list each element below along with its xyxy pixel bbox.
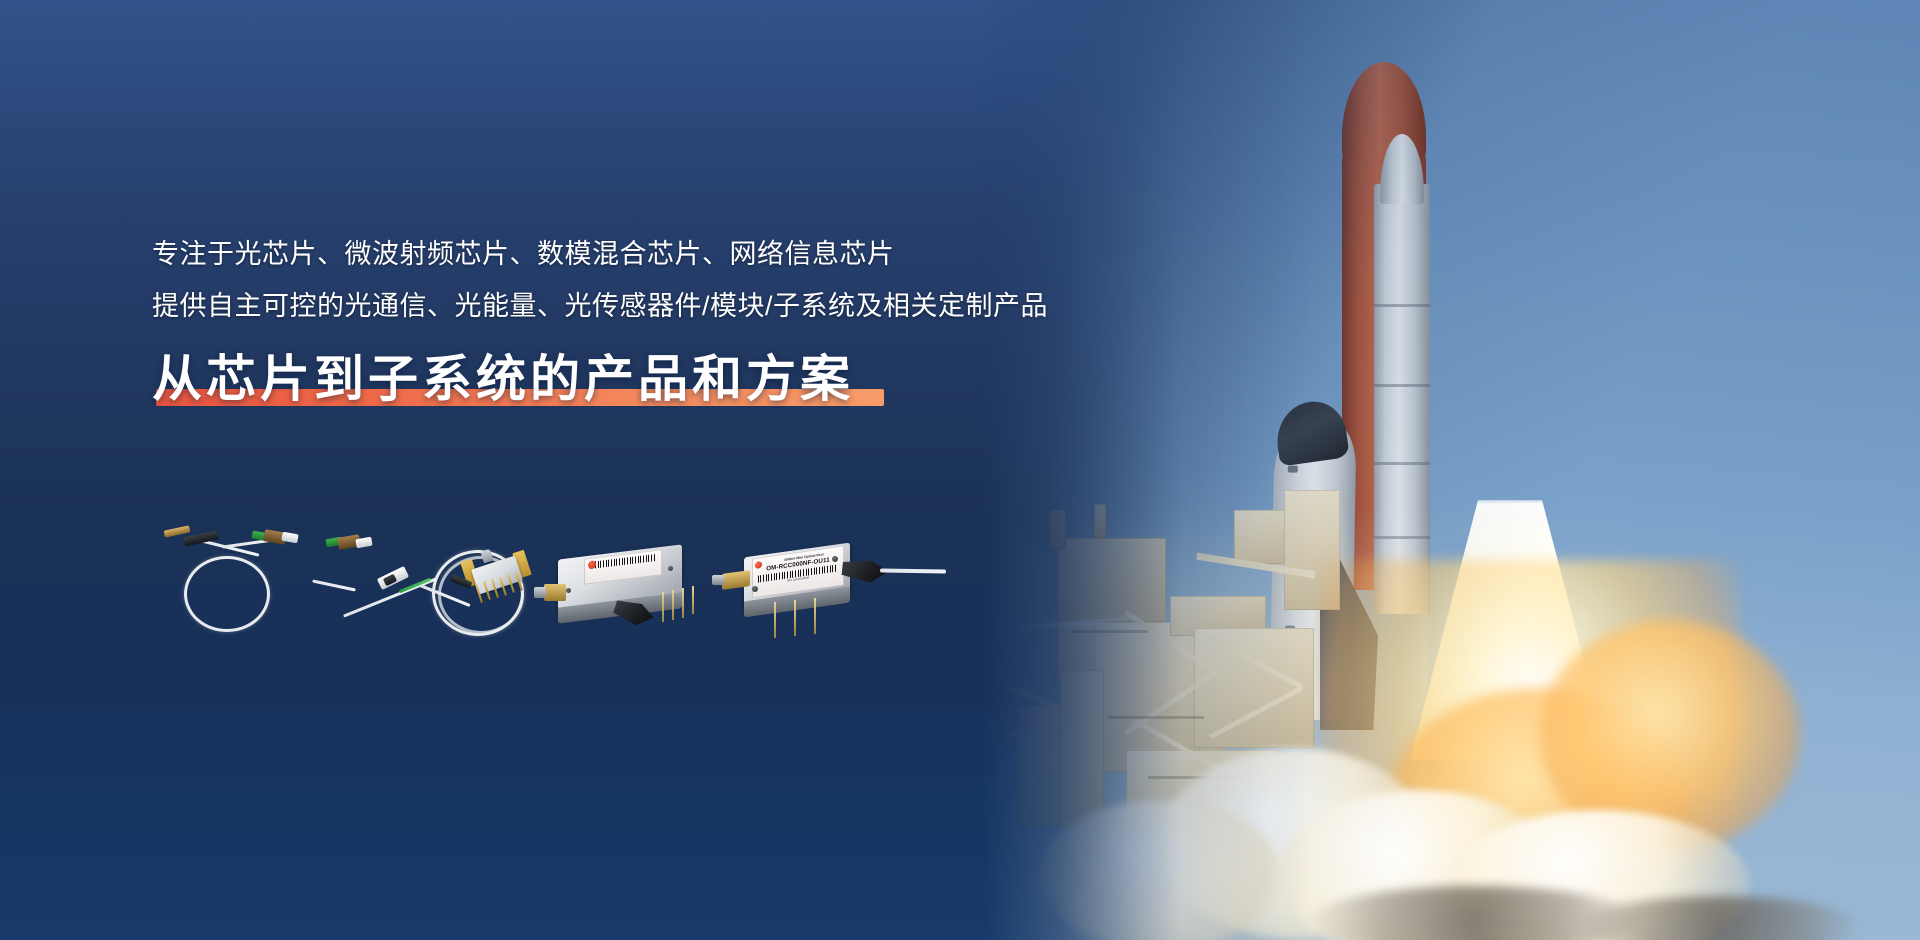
- sma-connector-tip: [534, 587, 546, 598]
- fiber-lead: [312, 579, 356, 591]
- housing-screw: [752, 586, 758, 592]
- subtitle-line-2: 提供自主可控的光通信、光能量、光传感器件/模块/子系统及相关定制产品: [152, 280, 1072, 332]
- module-pin: [774, 602, 776, 638]
- sma-connector-tip: [712, 575, 724, 585]
- headline-block: 从芯片到子系统的产品和方案: [152, 346, 854, 412]
- module-pin: [692, 586, 694, 614]
- hero-copy: 专注于光芯片、微波射频芯片、数模混合芯片、网络信息芯片 提供自主可控的光通信、光…: [152, 228, 1072, 412]
- housing-screw: [668, 566, 673, 571]
- pigtail-fiber: [880, 568, 946, 573]
- product-rf-optical-module: [540, 546, 710, 646]
- fiber-loop: [184, 556, 270, 632]
- module-pin: [672, 590, 674, 620]
- fiber-feedthrough-cap: [480, 549, 493, 564]
- subtitle-line-1: 专注于光芯片、微波射频芯片、数模混合芯片、网络信息芯片: [152, 228, 1072, 280]
- hero-banner: 专注于光芯片、微波射频芯片、数模混合芯片、网络信息芯片 提供自主可控的光通信、光…: [0, 0, 1920, 940]
- launch-photo-background: [980, 0, 1920, 940]
- module-pin: [814, 598, 816, 634]
- sma-rf-connector: [544, 584, 566, 601]
- module-pin: [682, 588, 684, 618]
- product-showcase-row: 40Gb/s Mini Optical Rcvr OM-RCC000NF-OU1…: [152, 520, 1082, 660]
- connector-gold-body: [164, 525, 191, 537]
- product-mini-optical-receiver: 40Gb/s Mini Optical Rcvr OM-RCC000NF-OU1…: [722, 544, 942, 654]
- housing-screw: [832, 556, 838, 562]
- module-pin: [794, 600, 796, 636]
- photo-blend-overlay: [980, 0, 1920, 940]
- product-fiber-patch-cord: [152, 520, 302, 640]
- barcode-icon: [590, 554, 656, 569]
- module-pin: [662, 592, 664, 622]
- page-title: 从芯片到子系统的产品和方案: [152, 346, 854, 412]
- housing-screw: [566, 588, 571, 593]
- connector-end-cap: [355, 537, 372, 549]
